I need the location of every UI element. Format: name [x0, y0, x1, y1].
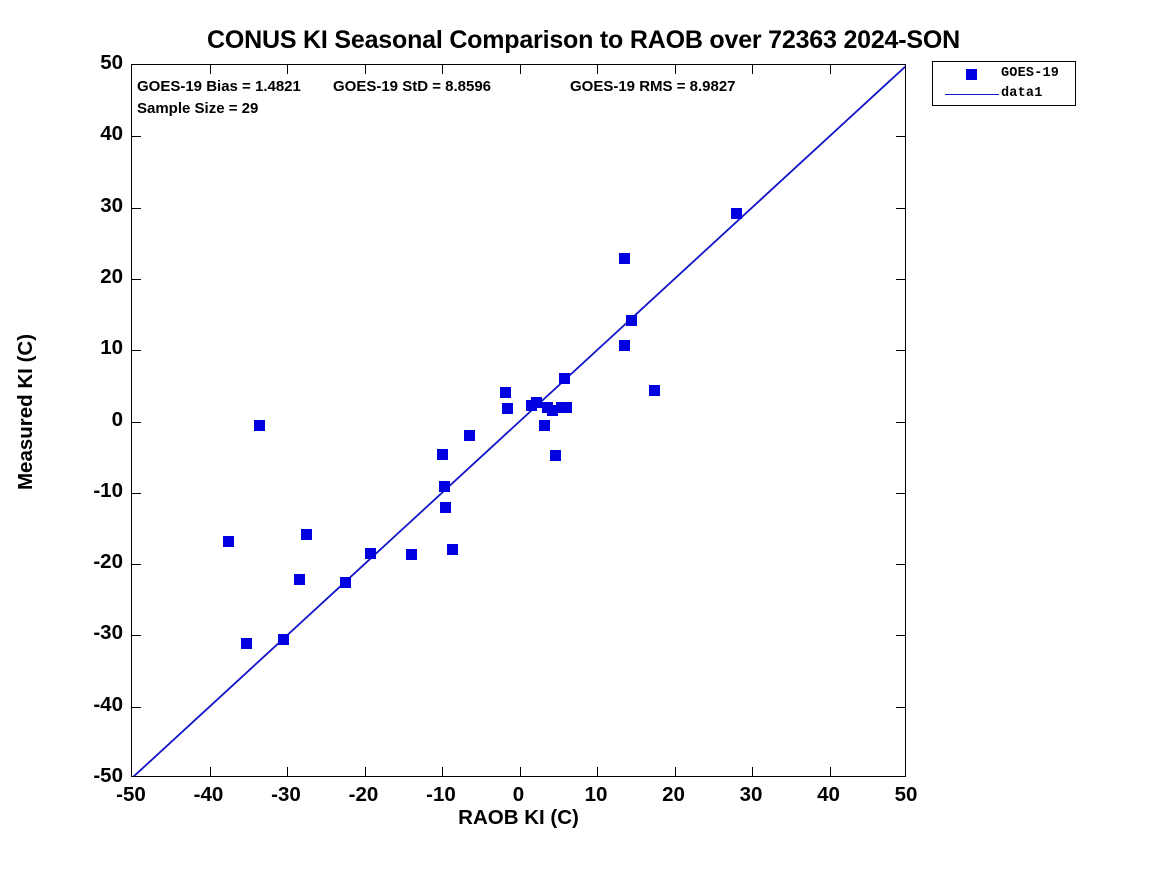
y-tick-label: -50 [27, 764, 123, 788]
x-tick-label: -10 [396, 783, 486, 807]
scatter-point [500, 387, 511, 398]
y-tick-right [896, 707, 905, 708]
x-tick-top [365, 65, 366, 74]
legend-marker-icon [966, 69, 977, 80]
y-tick-label: 20 [27, 265, 123, 289]
x-tick-label: -40 [164, 783, 254, 807]
y-tick-right [896, 635, 905, 636]
legend-box[interactable]: GOES-19 data1 [932, 61, 1076, 106]
plot-inner [132, 65, 905, 776]
scatter-point [254, 420, 265, 431]
scatter-point [626, 315, 637, 326]
x-tick-top [210, 65, 211, 74]
scatter-point [294, 574, 305, 585]
y-axis-label: Measured KI (C) [14, 252, 38, 572]
scatter-point [531, 397, 542, 408]
x-tick-label: -20 [319, 783, 409, 807]
scatter-point [440, 502, 451, 513]
figure-canvas: CONUS KI Seasonal Comparison to RAOB ove… [0, 0, 1167, 875]
x-tick-label: 0 [474, 783, 564, 807]
scatter-point [559, 373, 570, 384]
y-tick-label: -40 [27, 693, 123, 717]
x-tick [520, 767, 521, 776]
y-tick-right [896, 350, 905, 351]
scatter-point [439, 481, 450, 492]
scatter-point [278, 634, 289, 645]
y-tick-right [896, 564, 905, 565]
y-tick-right [896, 279, 905, 280]
x-tick [830, 767, 831, 776]
y-tick-label: -10 [27, 479, 123, 503]
chart-title: CONUS KI Seasonal Comparison to RAOB ove… [0, 26, 1167, 55]
y-tick [132, 493, 141, 494]
scatter-point [464, 430, 475, 441]
y-tick-label: 0 [27, 408, 123, 432]
x-tick-label: 30 [706, 783, 796, 807]
scatter-point [649, 385, 660, 396]
legend-label: data1 [1001, 86, 1043, 101]
y-tick-right [896, 208, 905, 209]
legend-label: GOES-19 [1001, 66, 1059, 81]
y-tick-label: -30 [27, 621, 123, 645]
scatter-point [619, 253, 630, 264]
plot-area[interactable] [131, 64, 906, 777]
x-tick-top [830, 65, 831, 74]
x-tick [287, 767, 288, 776]
y-tick-label: -20 [27, 550, 123, 574]
legend-entry-goes19[interactable]: GOES-19 [933, 64, 1075, 85]
legend-line-icon [945, 94, 999, 95]
y-tick [132, 136, 141, 137]
x-tick [210, 767, 211, 776]
scatter-point [340, 577, 351, 588]
scatter-point [241, 638, 252, 649]
scatter-point [301, 529, 312, 540]
stat-sample: Sample Size = 29 [137, 100, 258, 117]
x-tick [675, 767, 676, 776]
y-tick [132, 350, 141, 351]
x-tick-top [520, 65, 521, 74]
x-tick-top [287, 65, 288, 74]
y-tick-label: 30 [27, 194, 123, 218]
stat-rms: GOES-19 RMS = 8.9827 [570, 78, 736, 95]
x-tick [442, 767, 443, 776]
scatter-point [437, 449, 448, 460]
x-tick [365, 767, 366, 776]
y-tick [132, 279, 141, 280]
y-tick [132, 208, 141, 209]
y-tick [132, 422, 141, 423]
scatter-point [365, 548, 376, 559]
scatter-point [447, 544, 458, 555]
y-tick-label: 40 [27, 122, 123, 146]
scatter-point [223, 536, 234, 547]
stat-bias: GOES-19 Bias = 1.4821 [137, 78, 301, 95]
scatter-point [561, 402, 572, 413]
x-tick-top [752, 65, 753, 74]
x-tick-label: -30 [241, 783, 331, 807]
y-tick [132, 564, 141, 565]
x-tick-label: 10 [551, 783, 641, 807]
x-axis-label: RAOB KI (C) [131, 806, 906, 830]
y-tick-right [896, 136, 905, 137]
y-tick [132, 707, 141, 708]
one-to-one-line [132, 65, 905, 776]
x-tick-top [597, 65, 598, 74]
y-tick-label: 10 [27, 336, 123, 360]
y-tick-right [896, 493, 905, 494]
stat-std: GOES-19 StD = 8.8596 [333, 78, 491, 95]
x-tick-label: 40 [784, 783, 874, 807]
x-tick-top [442, 65, 443, 74]
scatter-point [539, 420, 550, 431]
x-tick [597, 767, 598, 776]
y-tick-label: 50 [27, 51, 123, 75]
y-tick [132, 635, 141, 636]
scatter-point [406, 549, 417, 560]
x-tick-top [675, 65, 676, 74]
x-tick-label: 50 [861, 783, 951, 807]
y-tick-right [896, 422, 905, 423]
x-tick-label: 20 [629, 783, 719, 807]
x-tick [752, 767, 753, 776]
legend-entry-data1[interactable]: data1 [933, 84, 1075, 105]
scatter-point [731, 208, 742, 219]
scatter-point [619, 340, 630, 351]
scatter-point [502, 403, 513, 414]
scatter-point [550, 450, 561, 461]
